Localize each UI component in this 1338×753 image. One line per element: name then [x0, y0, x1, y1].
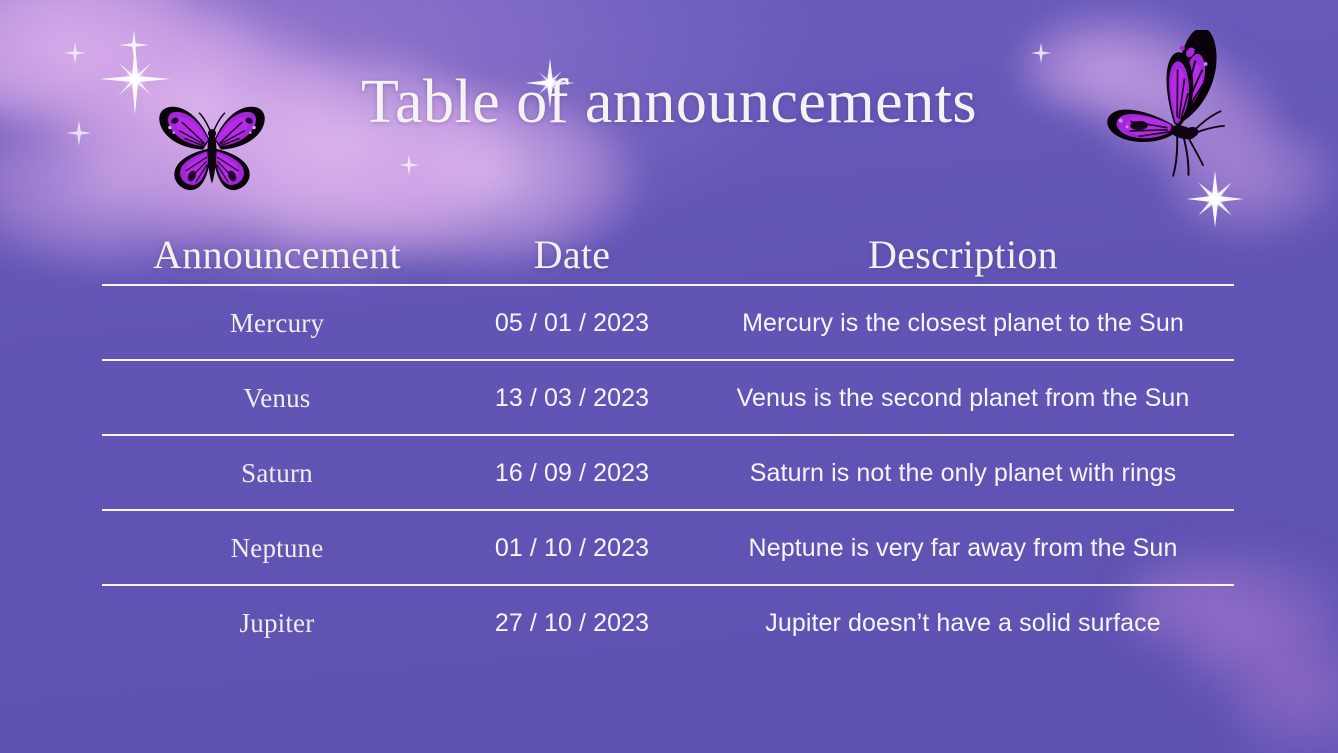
cell-description: Saturn is not the only planet with rings [692, 457, 1234, 489]
cell-description: Jupiter doesn’t have a solid surface [692, 607, 1234, 639]
cell-date: 27 / 10 / 2023 [452, 607, 692, 639]
row-divider [102, 434, 1234, 436]
row-divider [102, 284, 1234, 286]
cell-date: 13 / 03 / 2023 [452, 382, 692, 414]
cell-description: Mercury is the closest planet to the Sun [692, 307, 1234, 339]
cell-date: 16 / 09 / 2023 [452, 457, 692, 489]
cell-date: 05 / 01 / 2023 [452, 307, 692, 339]
cell-date: 01 / 10 / 2023 [452, 532, 692, 564]
row-divider [102, 359, 1234, 361]
row-divider [102, 584, 1234, 586]
cell-announcement: Jupiter [102, 606, 452, 640]
row-divider [102, 509, 1234, 511]
table-row: Saturn 16 / 09 / 2023 Saturn is not the … [102, 436, 1234, 509]
column-header-announcement: Announcement [102, 232, 452, 278]
column-header-date: Date [452, 232, 692, 278]
table-row: Jupiter 27 / 10 / 2023 Jupiter doesn’t h… [102, 586, 1234, 659]
cell-announcement: Venus [102, 381, 452, 415]
announcements-table: Announcement Date Description Mercury 05… [102, 226, 1234, 659]
cell-description: Neptune is very far away from the Sun [692, 532, 1234, 564]
table-row: Neptune 01 / 10 / 2023 Neptune is very f… [102, 511, 1234, 584]
table-header-row: Announcement Date Description [102, 226, 1234, 284]
column-header-description: Description [692, 232, 1234, 278]
slide-canvas: Table of announcements Announcement Date… [0, 0, 1338, 753]
cell-description: Venus is the second planet from the Sun [692, 382, 1234, 414]
table-row: Mercury 05 / 01 / 2023 Mercury is the cl… [102, 286, 1234, 359]
cell-announcement: Saturn [102, 456, 452, 490]
cell-announcement: Neptune [102, 531, 452, 565]
page-title: Table of announcements [0, 66, 1338, 138]
cell-announcement: Mercury [102, 306, 452, 340]
table-row: Venus 13 / 03 / 2023 Venus is the second… [102, 361, 1234, 434]
